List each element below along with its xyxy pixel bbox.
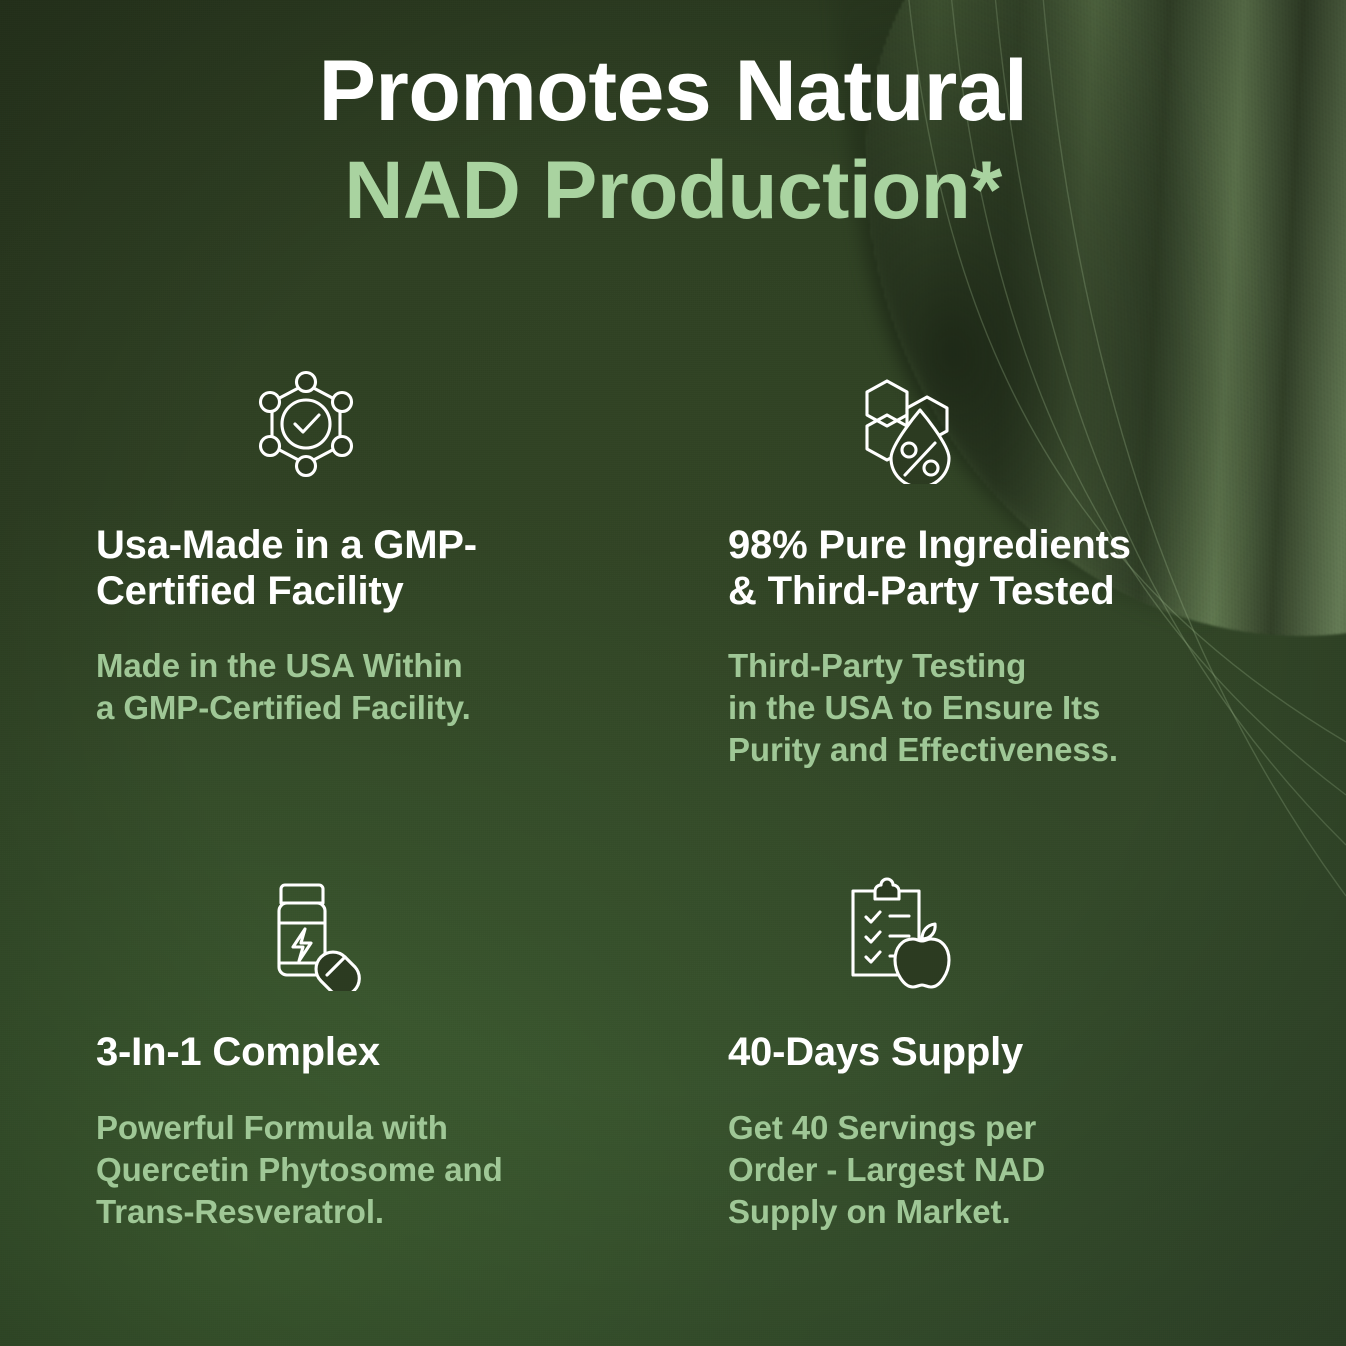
feature-card-pure-ingredients: 98% Pure Ingredients & Third-Party Teste… — [711, 360, 1286, 771]
feature-card-usa-made: Usa-Made in a GMP- Certified Facility Ma… — [96, 360, 711, 771]
feature-title: 98% Pure Ingredients & Third-Party Teste… — [728, 522, 1286, 615]
headline-line-2: NAD Production* — [0, 150, 1346, 232]
page-title: Promotes Natural NAD Production* — [0, 48, 1346, 232]
feature-description: Get 40 Servings per Order - Largest NAD … — [728, 1107, 1286, 1233]
feature-description: Powerful Formula with Quercetin Phytosom… — [96, 1107, 711, 1233]
feature-description: Made in the USA Within a GMP-Certified F… — [96, 645, 711, 729]
feature-title: Usa-Made in a GMP- Certified Facility — [96, 522, 711, 615]
feature-title: 40-Days Supply — [728, 1029, 1286, 1075]
feature-card-three-in-one: 3-In-1 Complex Powerful Formula with Que… — [96, 867, 711, 1233]
headline-line-1: Promotes Natural — [0, 48, 1346, 134]
product-benefits-poster: Promotes Natural NAD Production* — [0, 0, 1346, 1346]
honeycomb-droplet-percent-icon — [728, 360, 1286, 488]
feature-title: 3-In-1 Complex — [96, 1029, 711, 1075]
feature-card-supply: 40-Days Supply Get 40 Servings per Order… — [711, 867, 1286, 1233]
supplement-bottle-capsule-icon — [96, 867, 711, 995]
feature-grid: Usa-Made in a GMP- Certified Facility Ma… — [96, 360, 1286, 1233]
clipboard-checklist-apple-icon — [728, 867, 1286, 995]
hexagon-network-check-icon — [96, 360, 711, 488]
feature-description: Third-Party Testing in the USA to Ensure… — [728, 645, 1286, 771]
